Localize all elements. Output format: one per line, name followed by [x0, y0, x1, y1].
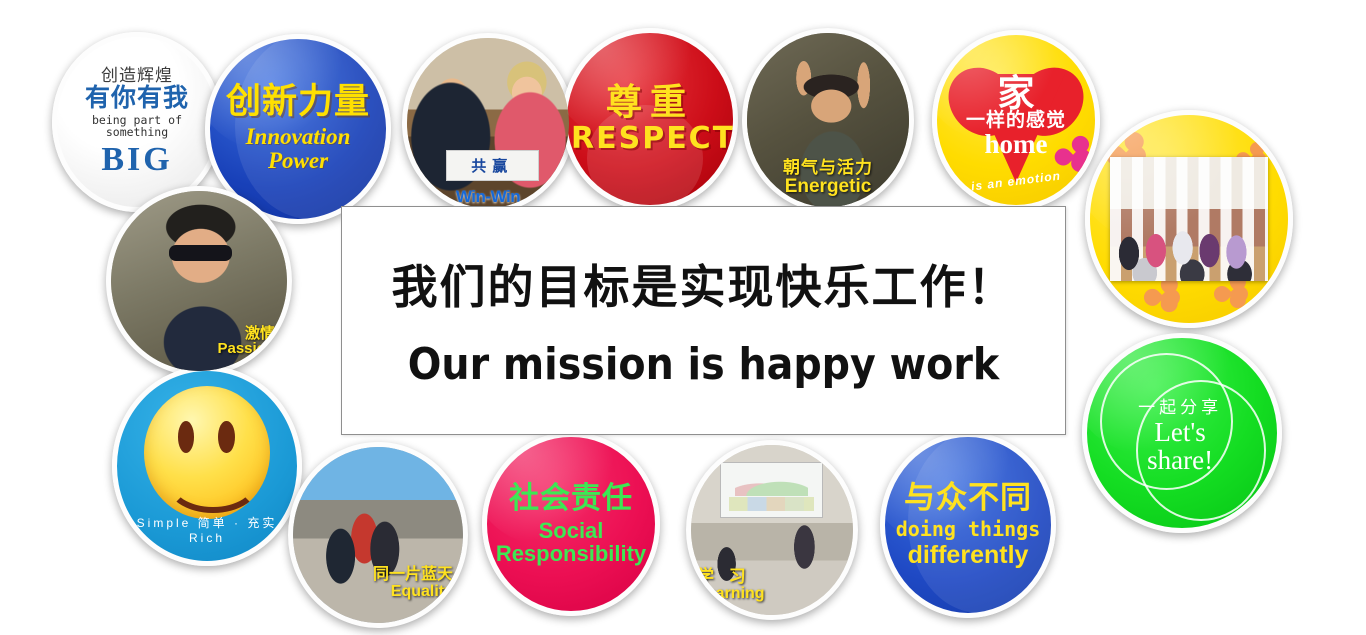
badge-winwin-plate: 共赢: [446, 150, 539, 181]
flower-icon-top-left: [1106, 131, 1146, 171]
badge-equality-line-1: 同一片蓝天: [373, 567, 453, 584]
badge-winwin-line-2: Win-Win: [407, 187, 569, 207]
mission-english: Our mission is happy work: [408, 339, 999, 390]
group-photo: [1110, 157, 1268, 282]
badge-home-line-1: 家: [941, 76, 1091, 111]
badge-share-line-3: share!: [1089, 446, 1271, 474]
badge-energetic[interactable]: 朝气与活力 Energetic: [742, 28, 914, 212]
badge-different-line-2: doing things: [889, 519, 1047, 540]
badge-share-text: 一起分享 Let's share!: [1085, 399, 1275, 475]
handshake-photo: [407, 38, 569, 208]
badge-social-text: 社会责任 Social Responsibility: [487, 483, 655, 565]
mission-chinese: 我们的目标是实现快乐工作！: [392, 251, 1016, 317]
badge-learning-text: 学 习 Learning: [693, 568, 769, 603]
badge-different-line-1: 与众不同: [889, 482, 1047, 515]
badge-social-responsibility[interactable]: 社会责任 Social Responsibility: [482, 432, 660, 616]
badge-passion[interactable]: 激情 Passion: [106, 186, 292, 376]
badge-respect-line-1: 尊重: [571, 83, 729, 121]
badge-home-line-2: 一样的感觉: [941, 111, 1091, 131]
badge-different-text: 与众不同 doing things differently: [885, 482, 1051, 568]
badge-big-line-2: 有你有我: [61, 85, 213, 111]
badge-big-text: 创造辉煌 有你有我 being part of something BIG: [57, 67, 217, 178]
badge-share-line-1: 一起分享: [1089, 399, 1271, 417]
projector-screen: [720, 462, 822, 518]
badge-being-part-of-something-big[interactable]: 创造辉煌 有你有我 being part of something BIG: [52, 32, 222, 212]
sunglasses-icon: [169, 245, 232, 261]
badge-social-line-3: Responsibility: [491, 542, 651, 565]
badge-home-line-3: home: [941, 130, 1091, 158]
badge-winwin-line-1: 共赢: [471, 155, 513, 176]
badge-respect[interactable]: 尊重 RESPECT: [562, 28, 738, 210]
badge-big-line-4: BIG: [61, 142, 213, 178]
badge-different-line-3: differently: [889, 542, 1047, 568]
badge-equality-text: 同一片蓝天 Equality: [369, 567, 457, 601]
badge-energetic-text: 朝气与活力 Energetic: [747, 159, 909, 197]
badge-home[interactable]: 家 一样的感觉 home is an emotion: [932, 30, 1100, 210]
badge-home-text: 家 一样的感觉 home: [937, 76, 1095, 158]
badge-innovation-line-2: Innovation Power: [214, 125, 382, 173]
badge-big-line-3: being part of something: [61, 114, 213, 138]
badge-learning-line-2: Learning: [697, 586, 765, 603]
badge-simple-rich[interactable]: Simple 简单 · 充实 Rich: [112, 366, 302, 566]
badge-passion-line-1: 激情: [217, 326, 275, 342]
badge-respect-text: 尊重 RESPECT: [567, 83, 733, 154]
badge-team-photo[interactable]: [1085, 110, 1293, 328]
badge-win-win[interactable]: 共赢 Win-Win: [402, 33, 574, 213]
badge-share-line-2: Let's: [1089, 418, 1271, 446]
badge-innovation-text: 创新力量 Innovation Power: [210, 84, 386, 173]
smiley-face-icon: [144, 386, 270, 519]
badge-equality-line-2: Equality: [373, 584, 453, 601]
badge-big-line-1: 创造辉煌: [61, 67, 213, 85]
badge-social-line-1: 社会责任: [491, 483, 651, 515]
badge-passion-line-2: Passion: [217, 341, 275, 357]
badge-passion-text: 激情 Passion: [213, 326, 279, 358]
values-poster: 创造辉煌 有你有我 being part of something BIG 创新…: [0, 0, 1366, 635]
badge-energetic-line-2: Energetic: [751, 177, 905, 197]
badge-doing-things-differently[interactable]: 与众不同 doing things differently: [880, 432, 1056, 618]
badge-energetic-line-1: 朝气与活力: [751, 159, 905, 177]
badge-learning[interactable]: 学 习 Learning: [686, 440, 858, 620]
badge-respect-line-2: RESPECT: [571, 123, 729, 155]
mission-banner: 我们的目标是实现快乐工作！ Our mission is happy work: [341, 206, 1066, 435]
badge-learning-line-1: 学 习: [697, 568, 765, 586]
badge-social-line-2: Social: [491, 519, 651, 542]
badge-innovation-line-1: 创新力量: [214, 84, 382, 121]
badge-lets-share[interactable]: 一起分享 Let's share!: [1082, 333, 1282, 533]
badge-equality[interactable]: 同一片蓝天 Equality: [288, 442, 468, 628]
badge-smile-line-1: Simple 简单 · 充实 Rich: [117, 514, 297, 545]
